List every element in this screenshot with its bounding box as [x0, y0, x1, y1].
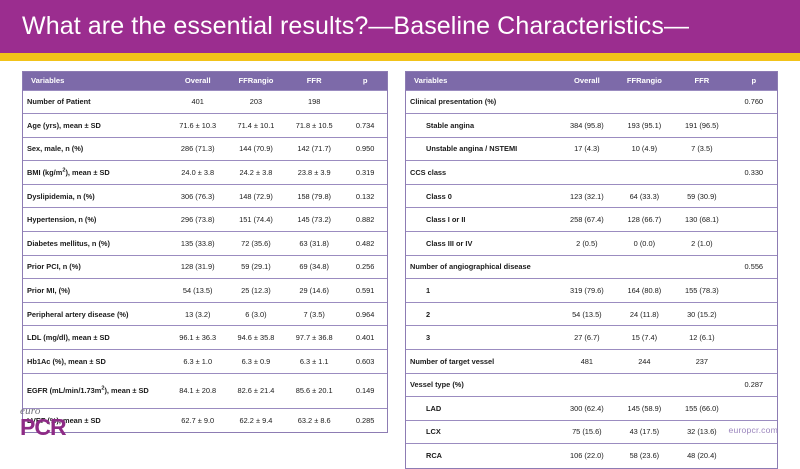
table-row: LCX75 (15.6)43 (17.5)32 (13.6): [406, 420, 777, 444]
cell-pvalue: 0.256: [343, 255, 387, 279]
cell-ffrangio: [616, 373, 674, 397]
row-variable-label: Number of angiographical disease: [406, 255, 558, 279]
cell-pvalue: [343, 90, 387, 114]
cell-overall: 24.0 ± 3.8: [169, 161, 227, 185]
cell-ffrangio: 43 (17.5): [616, 420, 674, 444]
tables-area: Variables Overall FFRangio FFR p Number …: [0, 61, 800, 406]
cell-overall: 258 (67.4): [558, 208, 616, 232]
row-variable-label: Peripheral artery disease (%): [23, 302, 169, 326]
cell-pvalue: 0.482: [343, 232, 387, 256]
cell-overall: [558, 255, 616, 279]
cell-overall: 319 (79.6): [558, 279, 616, 303]
cell-pvalue: [731, 137, 777, 161]
row-variable-label: BMI (kg/m2), mean ± SD: [23, 161, 169, 185]
row-variable-label: CCS class: [406, 161, 558, 185]
cell-ffrangio: 58 (23.6): [616, 444, 674, 468]
left-table-head: Variables Overall FFRangio FFR p: [23, 72, 387, 90]
cell-pvalue: 0.964: [343, 302, 387, 326]
table-row: Age (yrs), mean ± SD71.6 ± 10.371.4 ± 10…: [23, 114, 387, 138]
footer-website-url: europcr.com: [729, 425, 779, 435]
cell-ffrangio: [616, 161, 674, 185]
cell-pvalue: 0.149: [343, 373, 387, 408]
cell-pvalue: [731, 114, 777, 138]
cell-ffrangio: 6 (3.0): [227, 302, 285, 326]
col-header-p: p: [343, 72, 387, 90]
cell-overall: 62.7 ± 9.0: [169, 408, 227, 432]
cell-overall: [558, 161, 616, 185]
cell-overall: 306 (76.3): [169, 184, 227, 208]
right-table-header-row: Variables Overall FFRangio FFR p: [406, 72, 777, 90]
left-table: Variables Overall FFRangio FFR p Number …: [23, 72, 387, 432]
table-row: Dyslipidemia, n (%)306 (76.3)148 (72.9)1…: [23, 184, 387, 208]
cell-ffrangio: 25 (12.3): [227, 279, 285, 303]
table-row: EGFR (mL/min/1.73m2), mean ± SD84.1 ± 20…: [23, 373, 387, 408]
cell-ffrangio: 24.2 ± 3.8: [227, 161, 285, 185]
cell-ffr: [673, 161, 731, 185]
table-row: Sex, male, n (%)286 (71.3)144 (70.9)142 …: [23, 137, 387, 161]
table-row: 254 (13.5)24 (11.8)30 (15.2): [406, 302, 777, 326]
cell-pvalue: 0.287: [731, 373, 777, 397]
cell-ffr: 29 (14.6): [285, 279, 343, 303]
baseline-characteristics-table-right: Variables Overall FFRangio FFR p Clinica…: [405, 71, 778, 469]
cell-ffrangio: 144 (70.9): [227, 137, 285, 161]
row-variable-label: Clinical presentation (%): [406, 90, 558, 114]
col-header-ffr: FFR: [673, 72, 731, 90]
col-header-ffrangio: FFRangio: [227, 72, 285, 90]
cell-ffrangio: 71.4 ± 10.1: [227, 114, 285, 138]
cell-ffr: 63 (31.8): [285, 232, 343, 256]
table-row: Number of target vessel481244237: [406, 350, 777, 374]
row-variable-label: 1: [406, 279, 558, 303]
row-variable-label: Prior PCI, n (%): [23, 255, 169, 279]
cell-ffrangio: 59 (29.1): [227, 255, 285, 279]
cell-pvalue: 0.319: [343, 161, 387, 185]
table-row: 1319 (79.6)164 (80.8)155 (78.3): [406, 279, 777, 303]
col-header-ffrangio: FFRangio: [616, 72, 674, 90]
cell-ffrangio: 6.3 ± 0.9: [227, 350, 285, 374]
cell-pvalue: 0.882: [343, 208, 387, 232]
table-row: Diabetes mellitus, n (%)135 (33.8)72 (35…: [23, 232, 387, 256]
row-variable-label: LCX: [406, 420, 558, 444]
cell-overall: 17 (4.3): [558, 137, 616, 161]
cell-overall: 128 (31.9): [169, 255, 227, 279]
europcr-logo: euro PCR: [20, 406, 100, 439]
col-header-ffr: FFR: [285, 72, 343, 90]
slide-header-bar: What are the essential results?—Baseline…: [0, 0, 800, 53]
table-row: Unstable angina / NSTEMI17 (4.3)10 (4.9)…: [406, 137, 777, 161]
cell-ffr: 30 (15.2): [673, 302, 731, 326]
row-variable-label: Number of target vessel: [406, 350, 558, 374]
cell-overall: 96.1 ± 36.3: [169, 326, 227, 350]
cell-ffr: [673, 90, 731, 114]
table-row: Number of angiographical disease0.556: [406, 255, 777, 279]
cell-ffrangio: 62.2 ± 9.4: [227, 408, 285, 432]
cell-ffr: 63.2 ± 8.6: [285, 408, 343, 432]
table-row: Class III or IV2 (0.5)0 (0.0)2 (1.0): [406, 232, 777, 256]
cell-pvalue: [731, 302, 777, 326]
cell-ffr: 7 (3.5): [673, 137, 731, 161]
cell-ffr: [673, 373, 731, 397]
cell-ffr: 71.8 ± 10.5: [285, 114, 343, 138]
row-variable-label: Stable angina: [406, 114, 558, 138]
table-row: Hypertension, n (%)296 (73.8)151 (74.4)1…: [23, 208, 387, 232]
cell-ffr: 2 (1.0): [673, 232, 731, 256]
cell-pvalue: 0.330: [731, 161, 777, 185]
cell-pvalue: 0.603: [343, 350, 387, 374]
cell-ffr: 32 (13.6): [673, 420, 731, 444]
row-variable-label: Hb1Ac (%), mean ± SD: [23, 350, 169, 374]
cell-ffr: 198: [285, 90, 343, 114]
cell-ffrangio: 164 (80.8): [616, 279, 674, 303]
cell-overall: 54 (13.5): [558, 302, 616, 326]
cell-overall: 71.6 ± 10.3: [169, 114, 227, 138]
table-row: Stable angina384 (95.8)193 (95.1)191 (96…: [406, 114, 777, 138]
row-variable-label: Number of Patient: [23, 90, 169, 114]
col-header-p: p: [731, 72, 777, 90]
table-row: Peripheral artery disease (%)13 (3.2)6 (…: [23, 302, 387, 326]
right-table-head: Variables Overall FFRangio FFR p: [406, 72, 777, 90]
cell-pvalue: [731, 326, 777, 350]
row-variable-label: Prior MI, (%): [23, 279, 169, 303]
cell-overall: 106 (22.0): [558, 444, 616, 468]
cell-ffrangio: 72 (35.6): [227, 232, 285, 256]
cell-ffrangio: [616, 255, 674, 279]
cell-pvalue: 0.760: [731, 90, 777, 114]
cell-pvalue: [731, 232, 777, 256]
cell-overall: 286 (71.3): [169, 137, 227, 161]
cell-ffr: 191 (96.5): [673, 114, 731, 138]
table-row: RCA106 (22.0)58 (23.6)48 (20.4): [406, 444, 777, 468]
row-variable-label: RCA: [406, 444, 558, 468]
left-table-header-row: Variables Overall FFRangio FFR p: [23, 72, 387, 90]
col-header-overall: Overall: [169, 72, 227, 90]
table-row: BMI (kg/m2), mean ± SD24.0 ± 3.824.2 ± 3…: [23, 161, 387, 185]
cell-overall: 296 (73.8): [169, 208, 227, 232]
row-variable-label: LDL (mg/dl), mean ± SD: [23, 326, 169, 350]
cell-ffrangio: 24 (11.8): [616, 302, 674, 326]
cell-ffrangio: 94.6 ± 35.8: [227, 326, 285, 350]
cell-overall: [558, 90, 616, 114]
cell-pvalue: 0.950: [343, 137, 387, 161]
row-variable-label: Class 0: [406, 184, 558, 208]
cell-overall: 300 (62.4): [558, 397, 616, 421]
cell-overall: 2 (0.5): [558, 232, 616, 256]
cell-pvalue: 0.734: [343, 114, 387, 138]
cell-ffr: 23.8 ± 3.9: [285, 161, 343, 185]
cell-ffrangio: 64 (33.3): [616, 184, 674, 208]
row-variable-label: EGFR (mL/min/1.73m2), mean ± SD: [23, 373, 169, 408]
cell-overall: 123 (32.1): [558, 184, 616, 208]
cell-ffrangio: 145 (58.9): [616, 397, 674, 421]
cell-ffrangio: 15 (7.4): [616, 326, 674, 350]
cell-pvalue: [731, 350, 777, 374]
cell-overall: 401: [169, 90, 227, 114]
right-table-body: Clinical presentation (%)0.760Stable ang…: [406, 90, 777, 468]
cell-ffr: 69 (34.8): [285, 255, 343, 279]
cell-pvalue: 0.285: [343, 408, 387, 432]
cell-overall: [558, 373, 616, 397]
cell-pvalue: [731, 444, 777, 468]
cell-ffr: 155 (66.0): [673, 397, 731, 421]
cell-pvalue: [731, 208, 777, 232]
table-row: LAD300 (62.4)145 (58.9)155 (66.0): [406, 397, 777, 421]
col-header-overall: Overall: [558, 72, 616, 90]
table-row: CCS class0.330: [406, 161, 777, 185]
cell-overall: 384 (95.8): [558, 114, 616, 138]
row-variable-label: Diabetes mellitus, n (%): [23, 232, 169, 256]
cell-pvalue: 0.132: [343, 184, 387, 208]
cell-overall: 6.3 ± 1.0: [169, 350, 227, 374]
cell-ffr: 155 (78.3): [673, 279, 731, 303]
table-row: Hb1Ac (%), mean ± SD6.3 ± 1.06.3 ± 0.96.…: [23, 350, 387, 374]
cell-ffrangio: 203: [227, 90, 285, 114]
baseline-characteristics-table-left: Variables Overall FFRangio FFR p Number …: [22, 71, 388, 433]
cell-overall: 135 (33.8): [169, 232, 227, 256]
row-variable-label: Sex, male, n (%): [23, 137, 169, 161]
cell-pvalue: [731, 397, 777, 421]
table-row: 327 (6.7)15 (7.4)12 (6.1): [406, 326, 777, 350]
cell-overall: 13 (3.2): [169, 302, 227, 326]
cell-overall: 27 (6.7): [558, 326, 616, 350]
table-row: LDL (mg/dl), mean ± SD96.1 ± 36.394.6 ± …: [23, 326, 387, 350]
cell-ffr: 97.7 ± 36.8: [285, 326, 343, 350]
cell-ffrangio: [616, 90, 674, 114]
left-table-body: Number of Patient401203198Age (yrs), mea…: [23, 90, 387, 432]
cell-pvalue: 0.401: [343, 326, 387, 350]
cell-ffr: 12 (6.1): [673, 326, 731, 350]
row-variable-label: 2: [406, 302, 558, 326]
header-accent-stripe: [0, 53, 800, 61]
logo-pcr-text: PCR: [20, 416, 100, 439]
table-row: Vessel type (%)0.287: [406, 373, 777, 397]
right-table: Variables Overall FFRangio FFR p Clinica…: [406, 72, 777, 468]
cell-ffrangio: 244: [616, 350, 674, 374]
row-variable-label: Dyslipidemia, n (%): [23, 184, 169, 208]
cell-ffr: 6.3 ± 1.1: [285, 350, 343, 374]
cell-ffr: 158 (79.8): [285, 184, 343, 208]
cell-ffrangio: 82.6 ± 21.4: [227, 373, 285, 408]
cell-ffr: 237: [673, 350, 731, 374]
cell-ffrangio: 10 (4.9): [616, 137, 674, 161]
col-header-variables: Variables: [23, 72, 169, 90]
row-variable-label: LAD: [406, 397, 558, 421]
row-variable-label: Unstable angina / NSTEMI: [406, 137, 558, 161]
cell-ffr: 142 (71.7): [285, 137, 343, 161]
cell-pvalue: [731, 184, 777, 208]
cell-ffr: 145 (73.2): [285, 208, 343, 232]
cell-overall: 84.1 ± 20.8: [169, 373, 227, 408]
cell-ffrangio: 128 (66.7): [616, 208, 674, 232]
row-variable-label: Hypertension, n (%): [23, 208, 169, 232]
row-variable-label: 3: [406, 326, 558, 350]
cell-ffr: 48 (20.4): [673, 444, 731, 468]
table-row: Clinical presentation (%)0.760: [406, 90, 777, 114]
cell-ffr: 130 (68.1): [673, 208, 731, 232]
cell-ffr: 85.6 ± 20.1: [285, 373, 343, 408]
cell-overall: 75 (15.6): [558, 420, 616, 444]
table-row: Class 0123 (32.1)64 (33.3)59 (30.9): [406, 184, 777, 208]
cell-ffr: 59 (30.9): [673, 184, 731, 208]
cell-ffrangio: 148 (72.9): [227, 184, 285, 208]
table-row: Prior MI, (%)54 (13.5)25 (12.3)29 (14.6)…: [23, 279, 387, 303]
cell-ffrangio: 151 (74.4): [227, 208, 285, 232]
row-variable-label: Class III or IV: [406, 232, 558, 256]
cell-ffrangio: 193 (95.1): [616, 114, 674, 138]
cell-pvalue: [731, 279, 777, 303]
cell-pvalue: 0.556: [731, 255, 777, 279]
row-variable-label: Age (yrs), mean ± SD: [23, 114, 169, 138]
cell-overall: 481: [558, 350, 616, 374]
cell-ffrangio: 0 (0.0): [616, 232, 674, 256]
col-header-variables: Variables: [406, 72, 558, 90]
table-row: Prior PCI, n (%)128 (31.9)59 (29.1)69 (3…: [23, 255, 387, 279]
row-variable-label: Vessel type (%): [406, 373, 558, 397]
table-row: Class I or II258 (67.4)128 (66.7)130 (68…: [406, 208, 777, 232]
cell-ffr: [673, 255, 731, 279]
page-title: What are the essential results?—Baseline…: [0, 14, 689, 39]
row-variable-label: Class I or II: [406, 208, 558, 232]
cell-ffr: 7 (3.5): [285, 302, 343, 326]
cell-overall: 54 (13.5): [169, 279, 227, 303]
cell-pvalue: 0.591: [343, 279, 387, 303]
table-row: Number of Patient401203198: [23, 90, 387, 114]
